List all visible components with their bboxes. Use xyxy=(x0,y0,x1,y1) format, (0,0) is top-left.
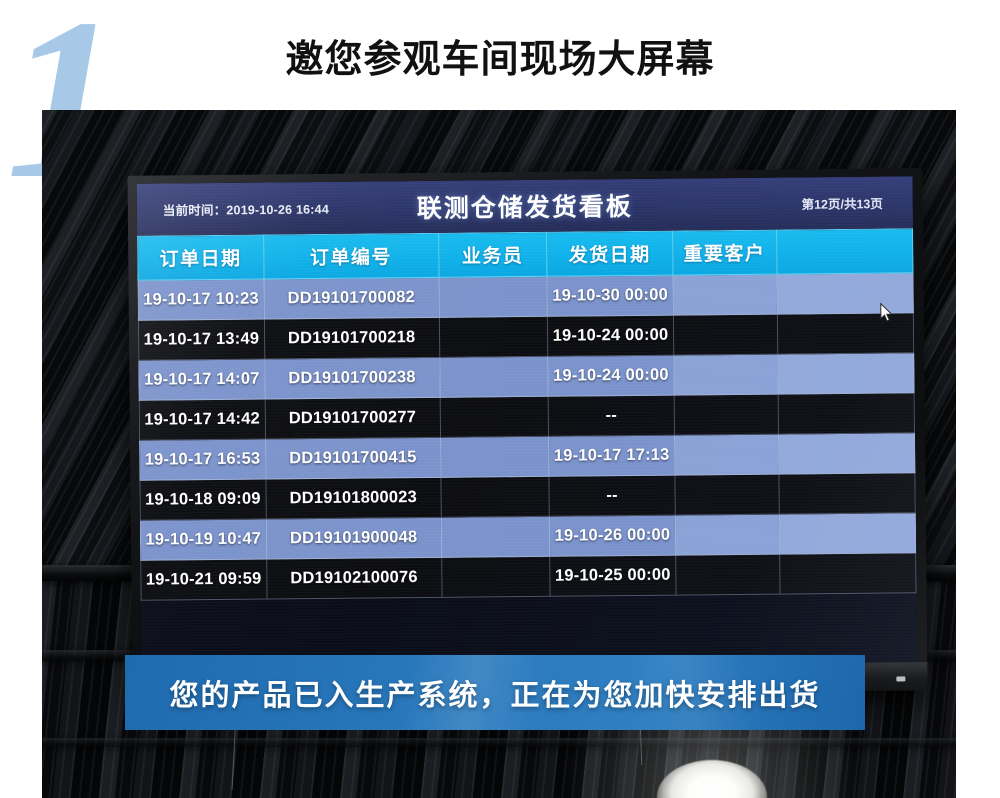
cell-extra xyxy=(777,353,914,394)
cell-extra xyxy=(778,473,915,514)
cell-key-customer xyxy=(673,354,777,395)
mouse-cursor-icon xyxy=(880,302,894,322)
cell-key-customer xyxy=(674,394,778,435)
shipment-table: 订单日期 订单编号 业务员 发货日期 重要客户 19-10-17 10:23DD… xyxy=(137,228,916,600)
cell-salesperson xyxy=(439,316,548,357)
cell-extra xyxy=(779,513,916,554)
cell-order-date: 19-10-19 10:47 xyxy=(140,519,266,560)
tv-power-led-icon xyxy=(896,676,905,681)
cell-ship-date: 19-10-17 17:13 xyxy=(549,435,675,476)
cell-salesperson xyxy=(439,356,548,397)
cell-salesperson xyxy=(441,516,550,557)
cell-order-date: 19-10-17 16:53 xyxy=(140,439,266,480)
column-header-salesperson[interactable]: 业务员 xyxy=(438,232,547,277)
kanban-header: 当前时间：2019-10-26 16:44 联测仓储发货看板 第12页/共13页 xyxy=(137,176,913,235)
cell-order-no: DD19101700277 xyxy=(265,397,441,439)
banner-text: 您的产品已入生产系统，正在为您加快安排出货 xyxy=(169,672,820,714)
column-header-order-no[interactable]: 订单编号 xyxy=(263,233,439,279)
cell-ship-date: -- xyxy=(548,395,674,436)
cell-order-date: 19-10-17 10:23 xyxy=(138,279,264,320)
cell-ship-date: 19-10-24 00:00 xyxy=(548,355,674,396)
cell-order-no: DD19101700218 xyxy=(264,317,440,359)
cell-order-date: 19-10-21 09:59 xyxy=(141,559,267,600)
cell-key-customer xyxy=(675,554,779,595)
page-root: 1 邀您参观车间现场大屏幕 当前时间：2019-10-26 16:44 联测仓储… xyxy=(0,0,1000,798)
cell-order-date: 19-10-17 14:07 xyxy=(139,359,265,400)
cell-extra xyxy=(779,553,916,594)
cell-key-customer xyxy=(673,314,777,355)
pagination-indicator: 第12页/共13页 xyxy=(801,193,882,213)
cell-order-no: DD19101700415 xyxy=(265,437,441,479)
cell-order-date: 19-10-17 14:42 xyxy=(139,399,265,440)
column-header-ship-date[interactable]: 发货日期 xyxy=(547,231,673,276)
cell-key-customer xyxy=(674,434,778,475)
column-header-key-customer[interactable]: 重要客户 xyxy=(672,230,776,275)
cell-salesperson xyxy=(440,436,549,477)
cell-order-no: DD19101700238 xyxy=(264,357,440,399)
cell-key-customer xyxy=(673,274,777,315)
table-row[interactable]: 19-10-21 09:59DD1910210007619-10-25 00:0… xyxy=(141,553,916,600)
cell-salesperson xyxy=(441,476,550,517)
cell-order-date: 19-10-17 13:49 xyxy=(138,319,264,360)
cell-ship-date: 19-10-26 00:00 xyxy=(549,515,675,556)
cell-key-customer xyxy=(675,474,779,515)
table-header-row: 订单日期 订单编号 业务员 发货日期 重要客户 xyxy=(138,229,913,280)
cell-extra xyxy=(778,393,915,434)
workshop-photo: 当前时间：2019-10-26 16:44 联测仓储发货看板 第12页/共13页… xyxy=(42,110,956,798)
cell-salesperson xyxy=(440,396,549,437)
caption-banner: 您的产品已入生产系统，正在为您加快安排出货 xyxy=(125,655,865,730)
cell-order-date: 19-10-18 09:09 xyxy=(140,479,266,520)
column-header-order-date[interactable]: 订单日期 xyxy=(138,235,264,280)
cell-ship-date: 19-10-24 00:00 xyxy=(548,315,674,356)
cell-ship-date: 19-10-30 00:00 xyxy=(547,275,673,316)
tv-screen[interactable]: 当前时间：2019-10-26 16:44 联测仓储发货看板 第12页/共13页… xyxy=(137,176,918,669)
cell-salesperson xyxy=(439,276,548,317)
cell-ship-date: 19-10-25 00:00 xyxy=(550,555,676,596)
cell-salesperson xyxy=(441,556,550,597)
cell-order-no: DD19101700082 xyxy=(264,277,440,319)
cell-order-no: DD19101800023 xyxy=(265,477,441,519)
cell-order-no: DD19101900048 xyxy=(266,517,442,559)
cell-order-no: DD19102100076 xyxy=(266,557,442,599)
kanban-dashboard: 当前时间：2019-10-26 16:44 联测仓储发货看板 第12页/共13页… xyxy=(137,176,918,669)
cell-ship-date: -- xyxy=(549,475,675,516)
page-title: 邀您参观车间现场大屏幕 xyxy=(0,28,1000,83)
cell-extra xyxy=(778,433,915,474)
cell-key-customer xyxy=(675,514,779,555)
current-time-label: 当前时间：2019-10-26 16:44 xyxy=(163,198,329,219)
wall-mounted-tv: 当前时间：2019-10-26 16:44 联测仓储发货看板 第12页/共13页… xyxy=(128,168,928,698)
column-header-extra[interactable] xyxy=(776,229,913,274)
ceiling-beam-3 xyxy=(42,738,956,747)
